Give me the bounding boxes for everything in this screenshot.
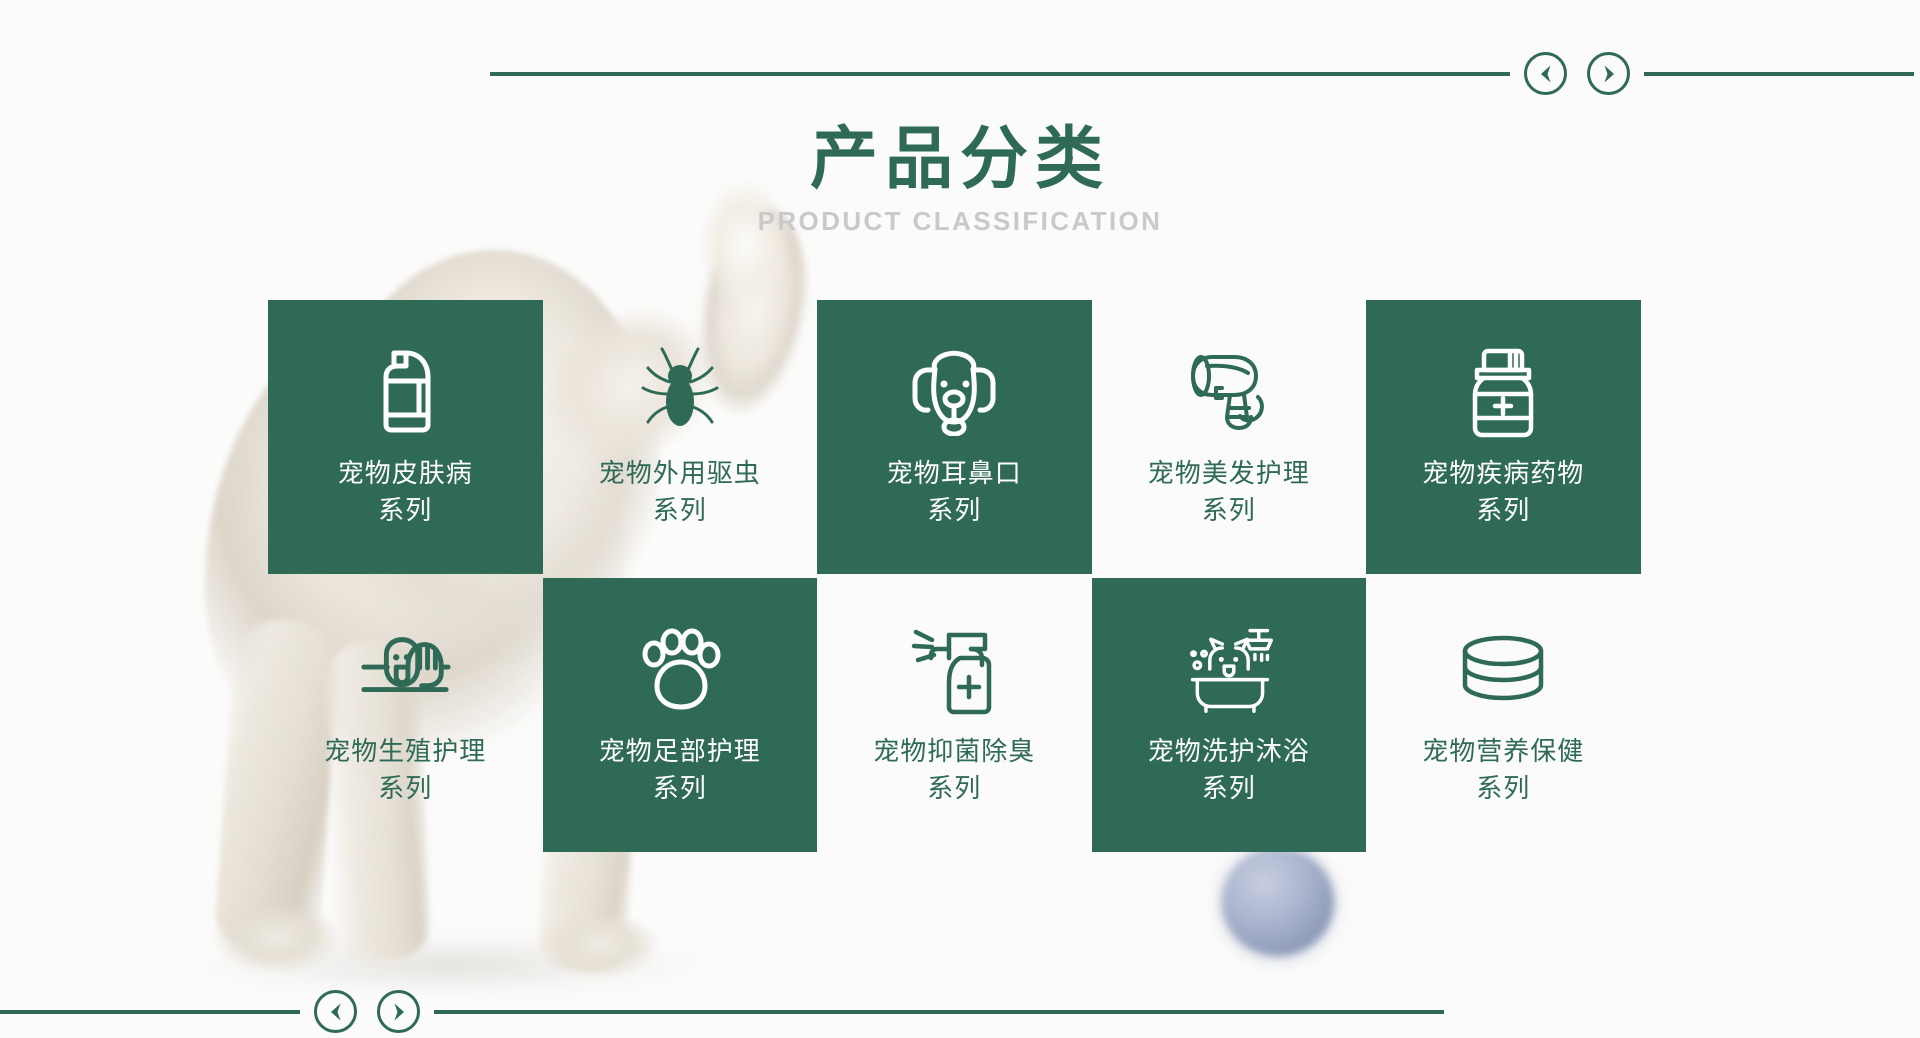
tick-insect-icon bbox=[632, 346, 728, 438]
top-rule-right bbox=[1644, 72, 1914, 76]
category-tile-pet-topical-deworming[interactable]: 宠物外用驱虫 系列 bbox=[543, 300, 818, 574]
chevron-right-icon bbox=[388, 1001, 410, 1023]
label-line-2: 系列 bbox=[1422, 771, 1584, 808]
top-rule-left bbox=[490, 72, 1510, 76]
spray-pump-bottle-icon bbox=[357, 346, 453, 438]
label-line-1: 宠物营养保健 bbox=[1422, 737, 1584, 767]
two-pets-icon bbox=[357, 624, 453, 716]
label-line-2: 系列 bbox=[1422, 493, 1584, 530]
category-tile-label: 宠物抑菌除臭 系列 bbox=[873, 734, 1035, 808]
category-tile-pet-ear-nose-mouth[interactable]: 宠物耳鼻口 系列 bbox=[817, 300, 1092, 574]
label-line-1: 宠物皮肤病 bbox=[338, 459, 473, 489]
toy-ball-halo bbox=[1212, 840, 1344, 966]
label-line-1: 宠物外用驱虫 bbox=[599, 459, 761, 489]
label-line-1: 宠物足部护理 bbox=[599, 737, 761, 767]
category-tile-label: 宠物耳鼻口 系列 bbox=[887, 456, 1022, 530]
medicine-bottle-icon bbox=[1455, 346, 1551, 438]
category-tile-label: 宠物足部护理 系列 bbox=[599, 734, 761, 808]
hair-dryer-icon bbox=[1181, 346, 1277, 438]
top-prev-arrow-button[interactable] bbox=[1524, 52, 1567, 95]
label-line-1: 宠物美发护理 bbox=[1148, 459, 1310, 489]
dog-head-icon bbox=[906, 346, 1002, 438]
label-line-1: 宠物洗护沐浴 bbox=[1148, 737, 1310, 767]
paw-print-icon bbox=[632, 624, 728, 716]
section-heading: 产品分类 PRODUCT CLASSIFICATION bbox=[0, 126, 1920, 234]
label-line-2: 系列 bbox=[599, 771, 761, 808]
label-line-1: 宠物耳鼻口 bbox=[887, 459, 1022, 489]
dog-front-paw bbox=[212, 905, 342, 977]
label-line-2: 系列 bbox=[1148, 771, 1310, 808]
label-line-2: 系列 bbox=[338, 493, 473, 530]
dog-hind-paw bbox=[540, 915, 660, 981]
category-tile-pet-reproductive-care[interactable]: 宠物生殖护理 系列 bbox=[268, 578, 543, 852]
bottom-next-arrow-button[interactable] bbox=[377, 990, 420, 1033]
page-title: 产品分类 bbox=[0, 126, 1920, 194]
category-tile-pet-paw-care[interactable]: 宠物足部护理 系列 bbox=[543, 578, 818, 852]
top-next-arrow-button[interactable] bbox=[1587, 52, 1630, 95]
product-category-grid: 宠物皮肤病 系列 宠物外用驱虫 bbox=[268, 300, 1646, 852]
category-tile-label: 宠物皮肤病 系列 bbox=[338, 456, 473, 530]
category-tile-pet-skin-disease[interactable]: 宠物皮肤病 系列 bbox=[268, 300, 543, 574]
category-tile-label: 宠物洗护沐浴 系列 bbox=[1148, 734, 1310, 808]
category-tile-label: 宠物美发护理 系列 bbox=[1148, 456, 1310, 530]
category-tile-label: 宠物外用驱虫 系列 bbox=[599, 456, 761, 530]
label-line-1: 宠物抑菌除臭 bbox=[873, 737, 1035, 767]
category-tile-pet-antibacterial-deodorant[interactable]: 宠物抑菌除臭 系列 bbox=[817, 578, 1092, 852]
page-subtitle: PRODUCT CLASSIFICATION bbox=[0, 208, 1920, 234]
category-tile-label: 宠物营养保健 系列 bbox=[1422, 734, 1584, 808]
label-line-2: 系列 bbox=[599, 493, 761, 530]
label-line-1: 宠物生殖护理 bbox=[324, 737, 486, 767]
bottom-rule-right bbox=[434, 1010, 1444, 1014]
label-line-2: 系列 bbox=[324, 771, 486, 808]
label-line-2: 系列 bbox=[1148, 493, 1310, 530]
toy-ball bbox=[1222, 848, 1334, 956]
dog-bathtub-shower-icon bbox=[1181, 624, 1277, 716]
bottom-prev-arrow-button[interactable] bbox=[314, 990, 357, 1033]
category-tile-pet-wash-bath[interactable]: 宠物洗护沐浴 系列 bbox=[1092, 578, 1367, 852]
label-line-2: 系列 bbox=[887, 493, 1022, 530]
canned-food-icon bbox=[1455, 624, 1551, 716]
category-tile-label: 宠物生殖护理 系列 bbox=[324, 734, 486, 808]
category-tile-pet-nutrition-health[interactable]: 宠物营养保健 系列 bbox=[1366, 578, 1641, 852]
bottom-rule-left bbox=[0, 1010, 300, 1014]
spray-trigger-bottle-icon bbox=[906, 624, 1002, 716]
chevron-left-icon bbox=[325, 1001, 347, 1023]
label-line-2: 系列 bbox=[873, 771, 1035, 808]
category-tile-label: 宠物疾病药物 系列 bbox=[1422, 456, 1584, 530]
category-tile-pet-disease-medicine[interactable]: 宠物疾病药物 系列 bbox=[1366, 300, 1641, 574]
dog-shadow bbox=[190, 935, 710, 995]
chevron-left-icon bbox=[1535, 63, 1557, 85]
chevron-right-icon bbox=[1598, 63, 1620, 85]
label-line-1: 宠物疾病药物 bbox=[1422, 459, 1584, 489]
top-navigation-bar bbox=[0, 52, 1920, 95]
category-tile-pet-hair-grooming[interactable]: 宠物美发护理 系列 bbox=[1092, 300, 1367, 574]
bottom-navigation-bar bbox=[0, 990, 1920, 1033]
